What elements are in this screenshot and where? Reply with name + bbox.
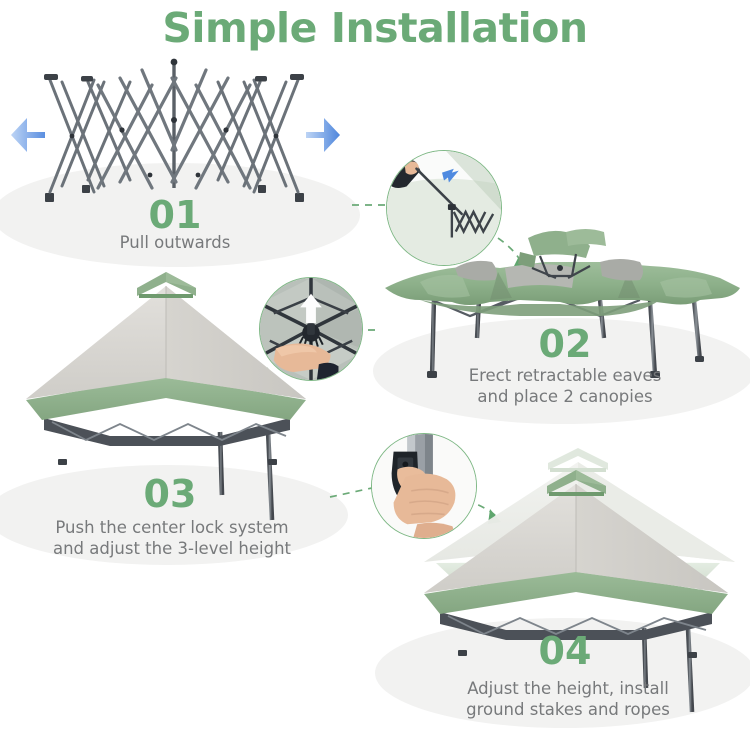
connector-03-to-inset04 (330, 488, 372, 497)
step-01-number: 01 (100, 196, 250, 234)
step-04-ghost-vent (548, 448, 608, 472)
step-04-caption-line-2: ground stakes and ropes (448, 699, 688, 720)
arrow-right-icon (306, 118, 340, 152)
step-01-illustration (11, 59, 340, 202)
step-04-caption-line-1: Adjust the height, install (448, 678, 688, 699)
step-02-number: 02 (490, 325, 640, 363)
step-02-caption-line-1: Erect retractable eaves (450, 365, 680, 386)
hand-pushing-center-lock-photo (260, 278, 362, 380)
installation-infographic: Simple Installation (0, 0, 750, 750)
inset-photo-step-03 (259, 277, 363, 381)
hand-gripping-leg-lock-photo (372, 434, 476, 538)
step-01-caption-line-1: Pull outwards (90, 232, 260, 253)
step-03-vent-cap (137, 272, 196, 298)
step-03-caption-line-1: Push the center lock system (32, 517, 312, 538)
inset-photo-step-04 (371, 433, 477, 539)
step-03-number: 03 (95, 475, 245, 513)
step-02-caption-line-2: and place 2 canopies (450, 386, 680, 407)
step-04-number: 04 (490, 632, 640, 670)
arrow-left-icon (11, 118, 45, 152)
step-03-caption-line-2: and adjust the 3-level height (32, 538, 312, 559)
hand-pulling-eave-strut-photo (387, 151, 501, 265)
inset-photo-step-02 (386, 150, 502, 266)
